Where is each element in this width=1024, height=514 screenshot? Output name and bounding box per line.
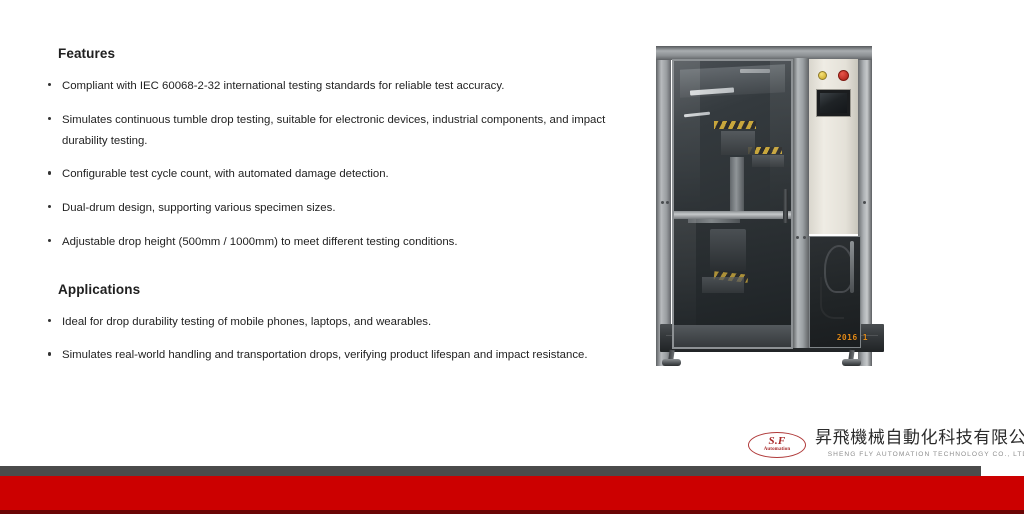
interior-column <box>730 157 744 211</box>
interior-lamp <box>740 69 770 73</box>
features-bullet-list: Compliant with IEC 60068-2-32 internatio… <box>44 76 619 253</box>
bullet-dot-icon <box>48 319 51 322</box>
chamber-floor <box>674 325 791 347</box>
lower-viewing-window <box>674 215 791 347</box>
company-name-block: 昇飛機械自動化科技有限公司 SHENG FLY AUTOMATION TECHN… <box>815 429 1024 458</box>
company-brand: S.F Automation 昇飛機械自動化科技有限公司 SHENG FLY A… <box>748 429 1024 458</box>
interior-machinery <box>702 277 744 293</box>
list-item-text: Simulates continuous tumble drop testing… <box>62 114 605 147</box>
glass-reflection <box>674 61 700 211</box>
amber-indicator-light-icon[interactable] <box>818 71 827 80</box>
list-item-text: Configurable test cycle count, with auto… <box>62 168 389 180</box>
foot-pad <box>842 359 861 366</box>
hmi-display <box>820 93 847 113</box>
bullet-dot-icon <box>48 171 51 174</box>
list-item: Configurable test cycle count, with auto… <box>44 164 619 185</box>
bay-rail <box>850 241 854 293</box>
bay-cable <box>820 277 844 319</box>
frame-bolt <box>803 236 806 239</box>
list-item: Simulates real-world handling and transp… <box>44 345 619 366</box>
logo-initials: S.F <box>748 435 806 447</box>
footer-gray-band <box>0 466 981 476</box>
lower-equipment-bay <box>809 236 861 348</box>
camera-date-stamp: 2016 1 <box>837 333 868 342</box>
list-item: Compliant with IEC 60068-2-32 internatio… <box>44 76 619 97</box>
product-photo: 2016 1 <box>648 44 880 382</box>
list-item: Dual-drum design, supporting various spe… <box>44 198 619 219</box>
hmi-touchscreen[interactable] <box>816 89 851 117</box>
frame-bolt <box>863 201 866 204</box>
footer-red-band <box>0 476 1024 510</box>
list-item: Adjustable drop height (500mm / 1000mm) … <box>44 232 619 253</box>
control-panel <box>809 59 858 234</box>
bullet-dot-icon <box>48 352 51 355</box>
company-logo-icon: S.F Automation <box>748 432 806 458</box>
bullet-dot-icon <box>48 83 51 86</box>
frame-left-post <box>656 46 671 366</box>
door-center-rail <box>674 211 791 219</box>
list-item-text: Dual-drum design, supporting various spe… <box>62 202 336 214</box>
upper-viewing-window <box>674 61 791 211</box>
list-item-text: Ideal for drop durability testing of mob… <box>62 316 431 328</box>
glass-viewing-door <box>672 59 793 349</box>
features-heading: Features <box>58 46 619 61</box>
company-name-english: SHENG FLY AUTOMATION TECHNOLOGY CO., LTD… <box>815 451 1024 458</box>
foot-pad <box>662 359 681 366</box>
list-item-text: Adjustable drop height (500mm / 1000mm) … <box>62 236 458 248</box>
bullet-dot-icon <box>48 205 51 208</box>
leveling-foot <box>662 350 682 366</box>
test-chamber-machine: 2016 1 <box>656 46 872 366</box>
frame-bolt <box>666 201 669 204</box>
bullet-dot-icon <box>48 117 51 120</box>
glass-reflection <box>770 61 791 211</box>
list-item: Ideal for drop durability testing of mob… <box>44 312 619 333</box>
bullet-dot-icon <box>48 239 51 242</box>
applications-bullet-list: Ideal for drop durability testing of mob… <box>44 312 619 367</box>
list-item: Simulates continuous tumble drop testing… <box>44 110 619 152</box>
frame-center-post <box>793 58 809 348</box>
frame-bolt <box>796 236 799 239</box>
company-name-chinese: 昇飛機械自動化科技有限公司 <box>815 429 1024 449</box>
emergency-stop-button[interactable] <box>838 70 849 81</box>
footer-bottom-edge <box>0 510 1024 514</box>
list-item-text: Compliant with IEC 60068-2-32 internatio… <box>62 80 504 92</box>
hazard-stripe <box>714 121 756 129</box>
list-item-text: Simulates real-world handling and transp… <box>62 349 588 361</box>
applications-heading: Applications <box>58 282 619 297</box>
logo-subtitle: Automation <box>748 447 806 452</box>
interior-machinery <box>721 131 755 155</box>
text-content-column: Features Compliant with IEC 60068-2-32 i… <box>44 46 619 366</box>
tumble-drum <box>710 229 746 271</box>
leveling-foot <box>842 350 862 366</box>
frame-bolt <box>661 201 664 204</box>
door-handle[interactable] <box>783 189 788 223</box>
frame-top-rail <box>656 46 872 60</box>
